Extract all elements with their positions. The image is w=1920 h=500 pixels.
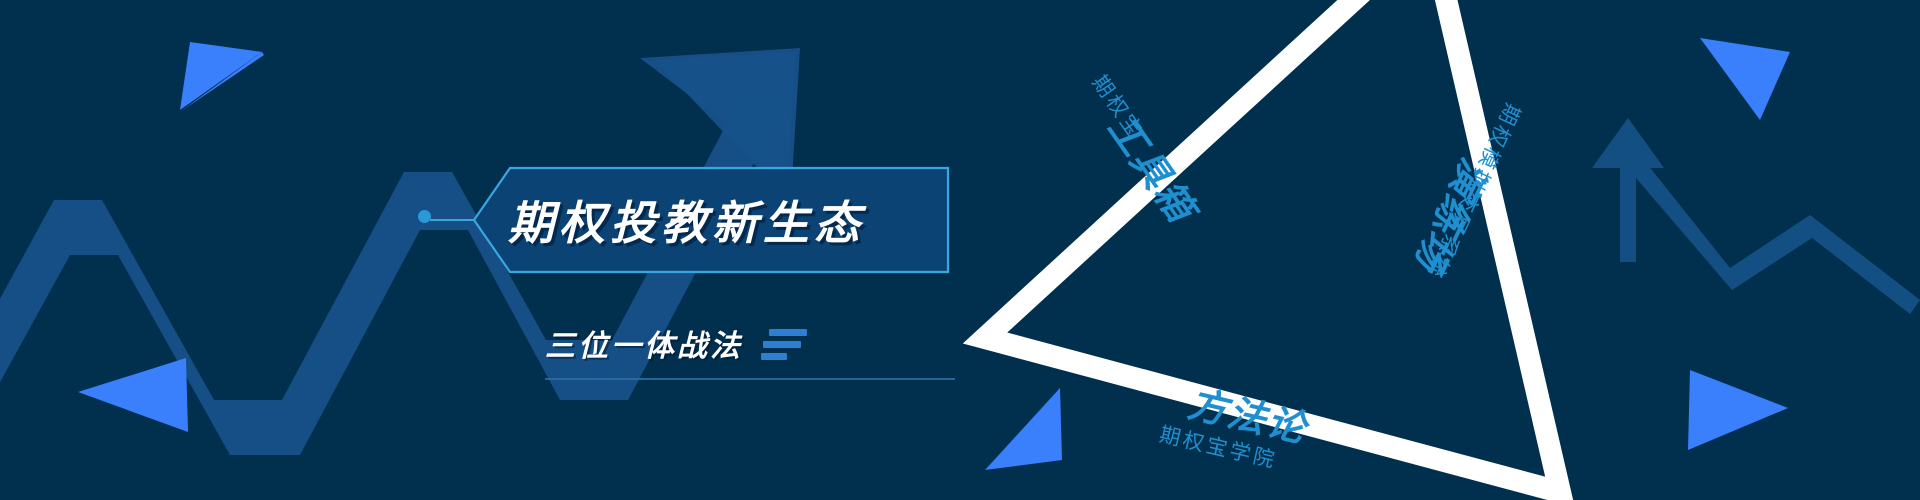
bar-2 [763, 341, 801, 348]
subtitle-text: 三位一体战法 [545, 321, 743, 365]
subtitle-divider [545, 378, 955, 380]
subtitle-block: 三位一体战法 [545, 320, 955, 380]
bar-3 [761, 353, 787, 360]
connector-dot-icon [418, 210, 431, 223]
page-title: 期权投教新生态 [508, 174, 928, 266]
bar-1 [769, 329, 807, 336]
triangle-outline [0, 0, 1920, 500]
promo-banner: 期权投教新生态 三位一体战法 期权宝 工具箱 期权模拟交易系统 演练场 方法论 … [0, 0, 1920, 500]
three-bars-icon [761, 329, 807, 360]
